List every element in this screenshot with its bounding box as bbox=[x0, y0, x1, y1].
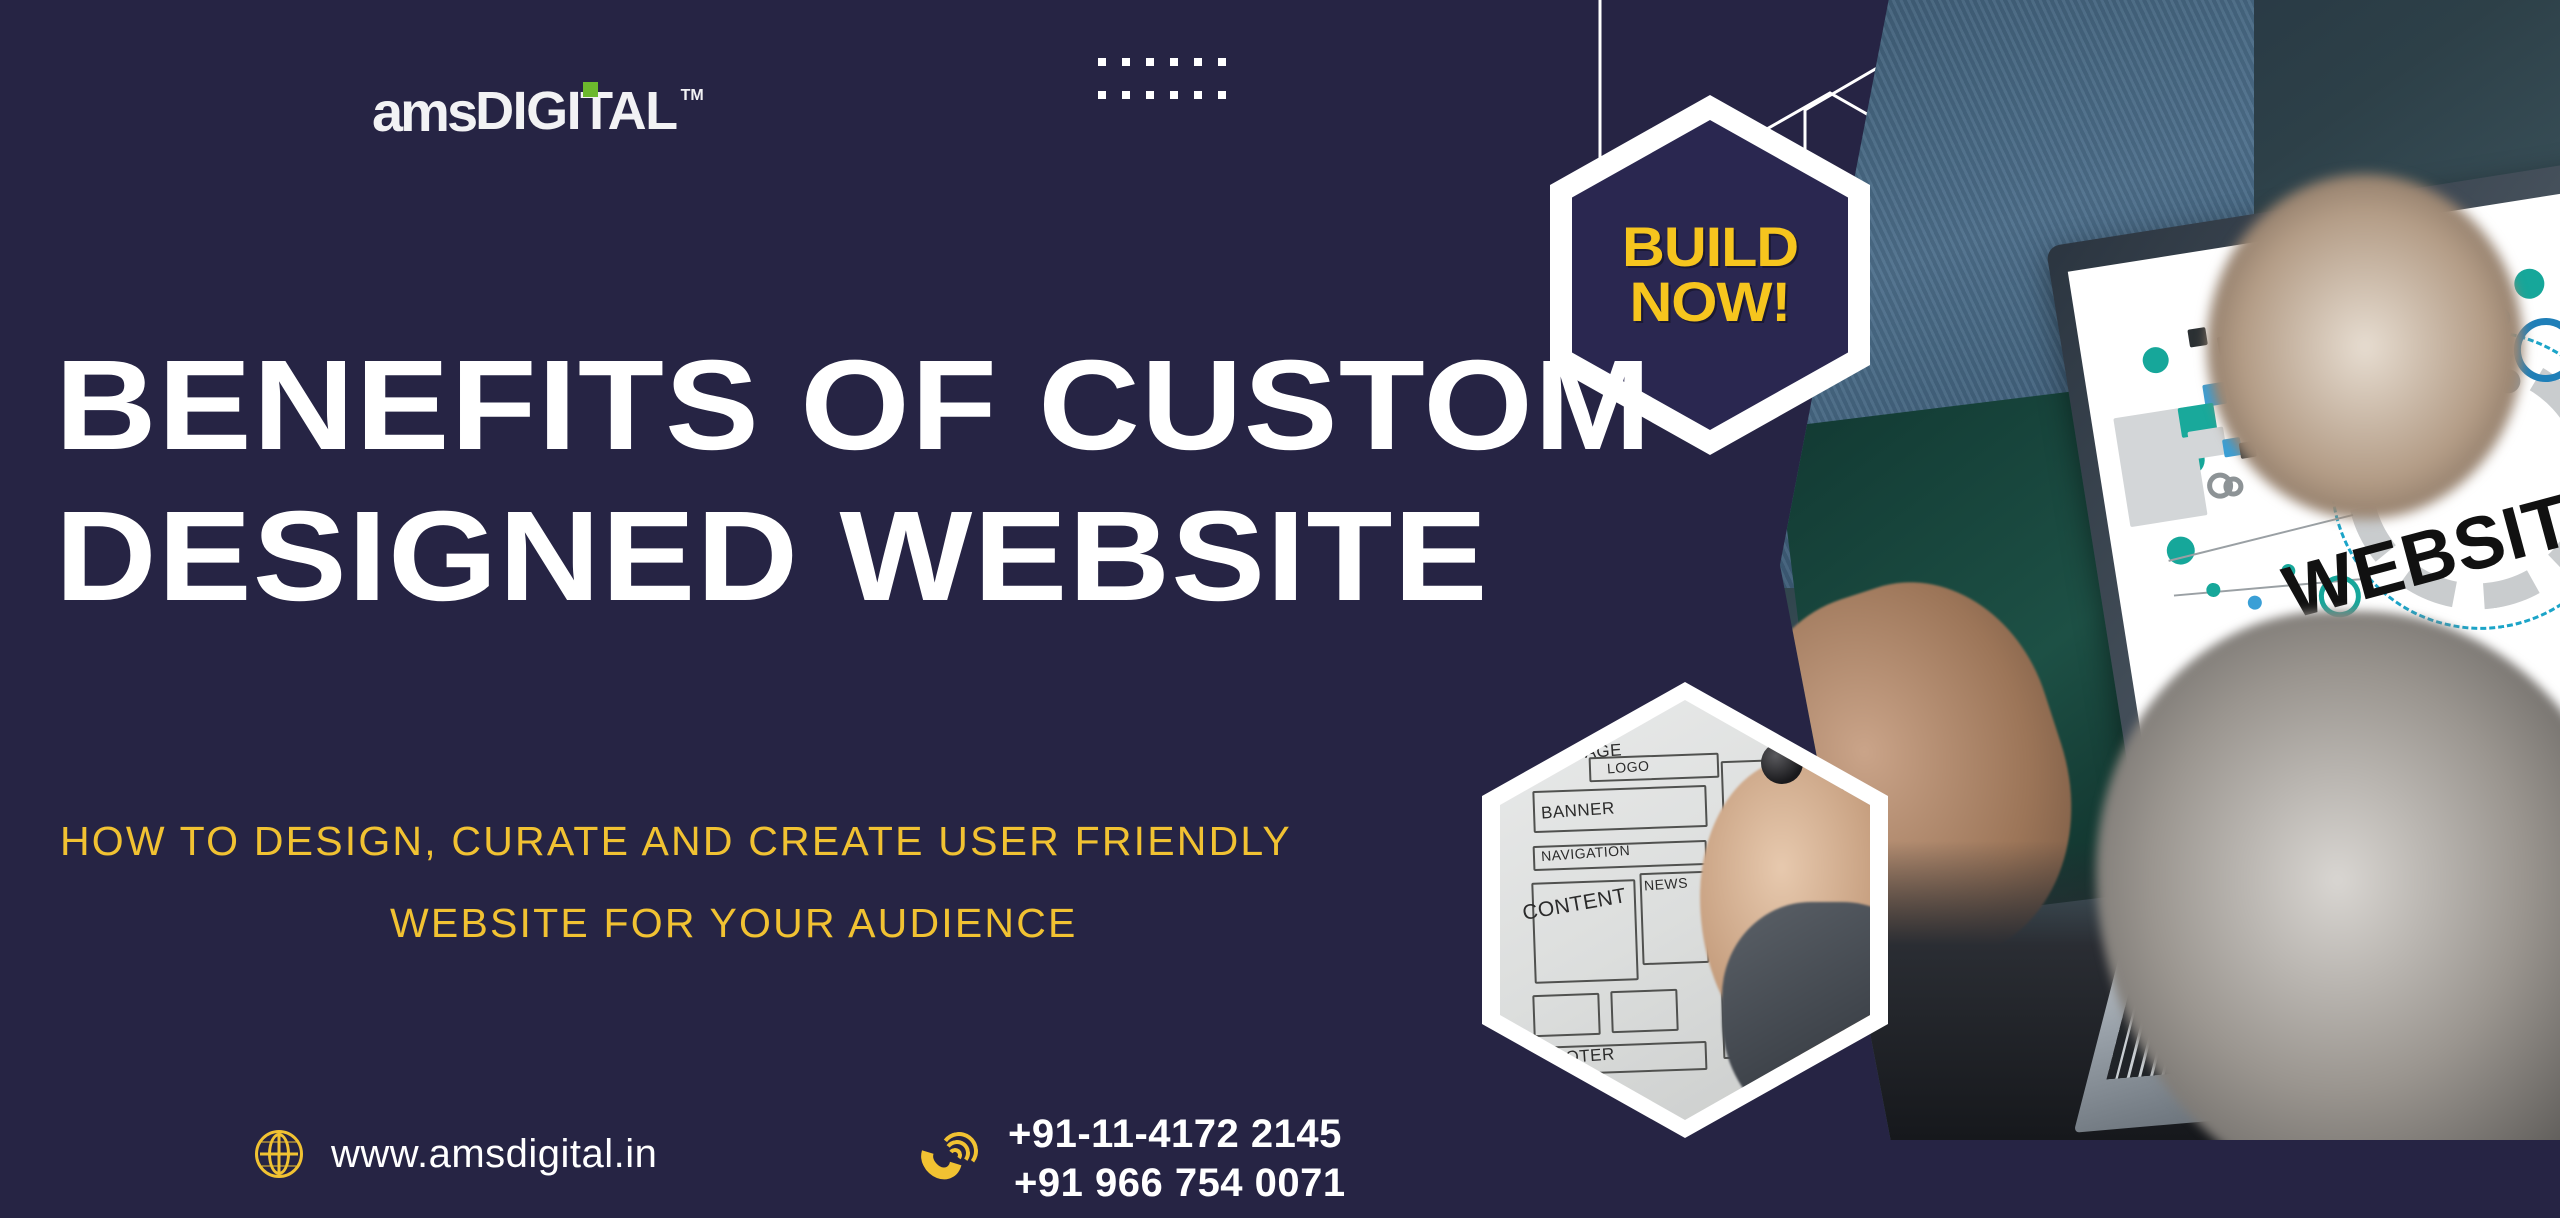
headline-line-2: DESIGNED WEBSITE bbox=[55, 481, 1705, 632]
teal-dot-icon bbox=[2141, 346, 2171, 376]
teal-dot-icon bbox=[2512, 267, 2546, 301]
grid-dot bbox=[1170, 91, 1178, 99]
globe-icon bbox=[255, 1130, 303, 1178]
dot-grid-decoration bbox=[1098, 58, 1242, 124]
chart-point-blue bbox=[2247, 594, 2263, 610]
chart-point-teal bbox=[2206, 582, 2222, 598]
phone-number-1[interactable]: +91-11-4172 2145 bbox=[1008, 1110, 1346, 1159]
grid-dot bbox=[1146, 91, 1154, 99]
badge-line-1: BUILD bbox=[1622, 220, 1798, 275]
badge-line-2: NOW! bbox=[1630, 275, 1791, 330]
logo-green-dot-icon bbox=[583, 82, 598, 97]
logo-digital-label: DIGITAL bbox=[475, 81, 676, 141]
blurred-sleeve bbox=[2096, 611, 2560, 1140]
blurred-hand-upper bbox=[2207, 174, 2523, 519]
phone-number-2[interactable]: +91 966 754 0071 bbox=[1008, 1159, 1346, 1208]
wire-box bbox=[1533, 993, 1601, 1037]
teal-dot-icon bbox=[2165, 534, 2197, 566]
globe-meridian bbox=[268, 1133, 290, 1175]
phone-icon bbox=[920, 1128, 982, 1190]
dark-square-icon bbox=[2188, 327, 2209, 348]
grid-dot bbox=[1098, 58, 1106, 66]
grid-dot bbox=[1098, 91, 1106, 99]
grid-dot bbox=[1146, 58, 1154, 66]
brand-logo[interactable]: ams DIGITAL TM bbox=[372, 84, 704, 140]
grey-cube-icon bbox=[2187, 427, 2227, 460]
wire-label-logo: LOGO bbox=[1607, 757, 1650, 776]
subtitle-line-2: WEBSITE FOR YOUR AUDIENCE bbox=[60, 882, 1560, 964]
grid-dot bbox=[1122, 91, 1130, 99]
wire-box bbox=[1610, 989, 1678, 1033]
phone-numbers: +91-11-4172 2145 +91 966 754 0071 bbox=[1008, 1110, 1346, 1208]
logo-ams-text: ams bbox=[372, 84, 475, 140]
grid-dot bbox=[1170, 58, 1178, 66]
promo-banner: i bbox=[0, 0, 2560, 1218]
headline-line-1: BENEFITS OF CUSTOM bbox=[55, 330, 1705, 481]
grid-dot bbox=[1194, 58, 1202, 66]
grid-dot bbox=[1218, 58, 1226, 66]
grid-dot bbox=[1218, 91, 1226, 99]
logo-digital-text: DIGITAL bbox=[475, 84, 676, 138]
website-contact[interactable]: www.amsdigital.in bbox=[255, 1130, 657, 1178]
subtitle-line-1: HOW TO DESIGN, CURATE AND CREATE USER FR… bbox=[60, 800, 1560, 882]
grid-dot bbox=[1194, 91, 1202, 99]
website-url[interactable]: www.amsdigital.in bbox=[331, 1132, 657, 1177]
logo-trademark: TM bbox=[681, 88, 704, 104]
phone-contact[interactable]: +91-11-4172 2145 +91 966 754 0071 bbox=[920, 1110, 1346, 1208]
laptop-photo: i bbox=[1780, 0, 2560, 1140]
page-subtitle: HOW TO DESIGN, CURATE AND CREATE USER FR… bbox=[60, 800, 1560, 964]
page-title: BENEFITS OF CUSTOM DESIGNED WEBSITE bbox=[55, 330, 1705, 632]
grid-dot bbox=[1122, 58, 1130, 66]
